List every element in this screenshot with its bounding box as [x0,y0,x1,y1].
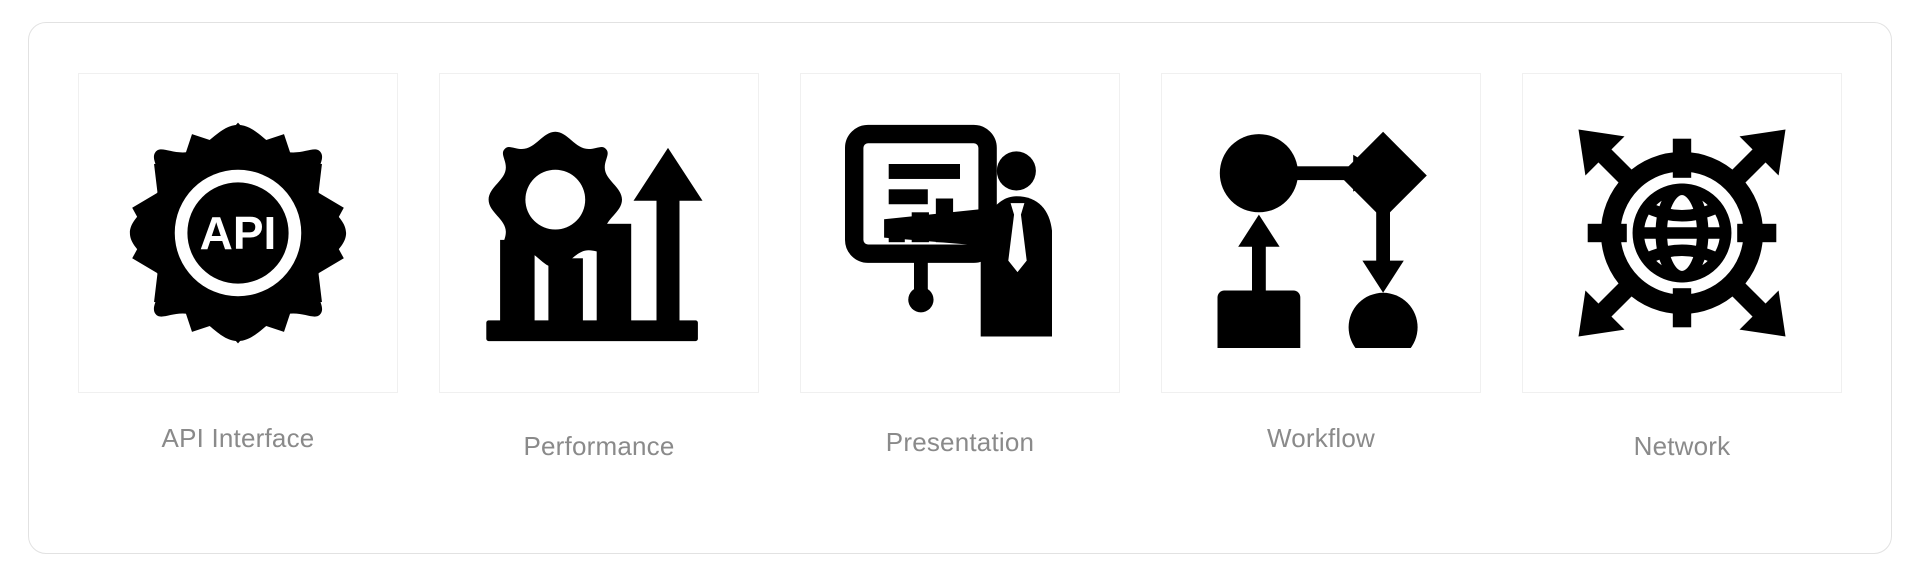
tick-south [1673,288,1691,327]
bar-3 [597,224,632,323]
presenter-head [997,151,1036,190]
icon-cell-network[interactable]: Network [1517,73,1847,462]
chart-baseline [486,320,698,341]
network-globe [1638,189,1725,276]
icon-box-performance[interactable] [439,73,759,393]
icon-grid: API API Interface [73,73,1847,513]
tick-west [1588,224,1627,242]
icon-label-workflow: Workflow [1267,423,1375,454]
performance-chart-gear-arrow-icon [484,118,714,348]
network-globe-target-arrows-icon [1567,118,1797,348]
workflow-flowchart-icon [1206,118,1436,348]
icon-box-api-interface[interactable]: API [78,73,398,393]
bar-2 [548,258,583,322]
board-line-1 [889,164,960,179]
icon-panel: API API Interface [28,22,1892,554]
workflow-arrow-up-head [1238,215,1279,247]
icon-cell-performance[interactable]: Performance [434,73,764,462]
board-stand [914,254,928,291]
tick-east [1737,224,1776,242]
icon-cell-workflow[interactable]: Workflow [1156,73,1486,454]
workflow-node-diamond [1339,132,1426,219]
bar-1 [500,240,534,323]
api-gear-icon: API [123,118,353,348]
icon-box-workflow[interactable] [1161,73,1481,393]
api-gear-inner-text: API [200,207,277,259]
tick-north [1673,139,1691,178]
icon-label-presentation: Presentation [886,427,1034,458]
workflow-arrow-down-head [1362,261,1403,293]
globe-parallel-north [1648,208,1717,216]
icon-label-network: Network [1634,431,1731,462]
icon-cell-api-interface[interactable]: API API Interface [73,73,403,454]
icon-box-presentation[interactable] [800,73,1120,393]
icon-cell-presentation[interactable]: Presentation [795,73,1125,458]
icon-label-api-interface: API Interface [162,423,315,454]
icon-sheet-page: API API Interface [0,0,1920,576]
globe-parallel-south [1648,250,1717,258]
workflow-node-circle-top [1220,134,1298,212]
icon-label-performance: Performance [523,431,674,462]
icon-box-network[interactable] [1522,73,1842,393]
up-arrow-sub-icon [634,148,703,323]
workflow-node-circle-bottom [1349,293,1418,348]
board-line-2 [889,189,928,204]
board-stand-foot [908,287,933,312]
workflow-node-square [1218,291,1301,349]
presentation-board-presenter-icon [845,118,1075,348]
